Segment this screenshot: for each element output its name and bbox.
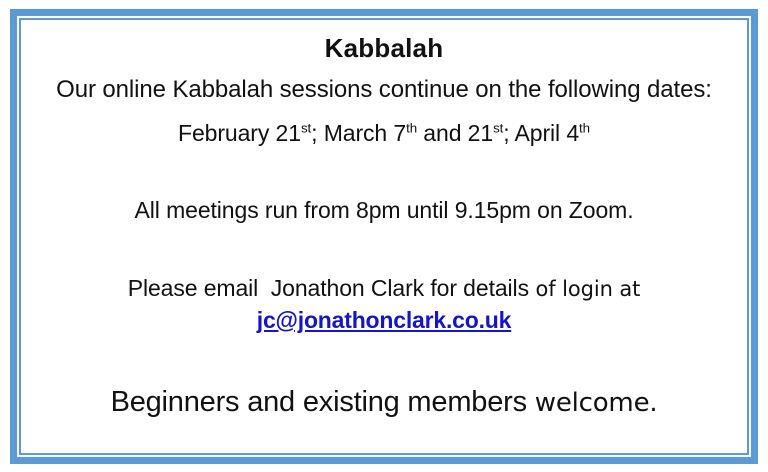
flyer-content: Kabbalah Our online Kabbalah sessions co… <box>21 20 747 453</box>
date-3-ordinal-suffix: st <box>493 120 503 135</box>
email-link[interactable]: jc@jonathonclark.co.uk <box>257 307 511 334</box>
flyer-welcome-text: Beginners and existing members welcome. <box>29 383 739 422</box>
date-2-ordinal-suffix: th <box>406 120 417 135</box>
date-1-base: February 21 <box>178 120 301 146</box>
date-4-ordinal-suffix: th <box>579 120 590 135</box>
date-2-base: ; March 7 <box>311 120 406 146</box>
date-4-base: ; April 4 <box>503 120 579 146</box>
flyer-page: Kabbalah Our online Kabbalah sessions co… <box>0 0 768 472</box>
flyer-intro-text: Our online Kabbalah sessions continue on… <box>29 73 739 107</box>
flyer-dates-text: February 21st; March 7th and 21st; April… <box>29 116 739 150</box>
welcome-emphasis-text: welcome. <box>535 388 658 418</box>
flyer-contact-text: Please email Jonathon Clark for details … <box>29 272 739 306</box>
date-1-ordinal-suffix: st <box>301 120 311 135</box>
date-3-base: and 21 <box>417 120 493 146</box>
flyer-title: Kabbalah <box>29 31 739 65</box>
flyer-meeting-times-text: All meetings run from 8pm until 9.15pm o… <box>29 193 739 227</box>
flyer-inner-border: Kabbalah Our online Kabbalah sessions co… <box>19 18 749 455</box>
contact-trailing-text: of login at <box>529 277 640 301</box>
flyer-border-gap: Kabbalah Our online Kabbalah sessions co… <box>17 16 751 457</box>
flyer-outer-border: Kabbalah Our online Kabbalah sessions co… <box>10 9 758 464</box>
contact-lead-text: Please email Jonathon Clark for details <box>128 275 529 301</box>
welcome-lead-text: Beginners and existing members <box>111 386 535 418</box>
flyer-email-link-row: jc@jonathonclark.co.uk <box>29 306 739 334</box>
